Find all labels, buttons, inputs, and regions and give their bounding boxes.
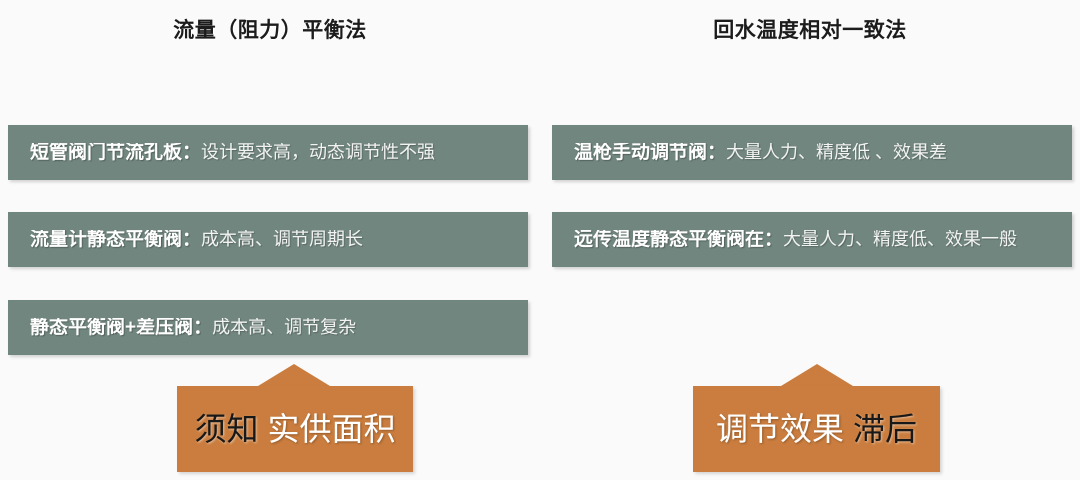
- left-callout-banner[interactable]: 须知 实供面积: [177, 386, 413, 472]
- left-item-2-text: 流量计静态平衡阀：成本高、调节周期长: [8, 230, 375, 249]
- left-item-bar-3[interactable]: 静态平衡阀+差压阀：成本高、调节复杂: [8, 300, 528, 355]
- left-callout-arrow-icon: [258, 364, 330, 386]
- right-callout-text: 调节效果 滞后: [716, 413, 917, 445]
- right-item-bar-2[interactable]: 远传温度静态平衡阀在：大量人力、精度低、效果一般: [552, 212, 1072, 267]
- left-item-2-keyword: 流量计静态平衡阀：: [30, 230, 201, 249]
- left-callout-dark-text: 须知: [195, 411, 259, 447]
- left-column-title: 流量（阻力）平衡法: [0, 14, 540, 44]
- right-item-1-text: 温枪手动调节阀：大量人力、精度低 、效果差: [552, 143, 959, 162]
- right-item-1-keyword: 温枪手动调节阀：: [574, 143, 726, 162]
- slide-canvas: 流量（阻力）平衡法 回水温度相对一致法 短管阀门节流孔板：设计要求高，动态调节性…: [0, 0, 1080, 480]
- left-item-3-desc: 成本高、调节复杂: [212, 318, 356, 337]
- left-item-1-desc: 设计要求高，动态调节性不强: [201, 143, 435, 162]
- right-item-2-desc: 大量人力、精度低、效果一般: [783, 230, 1017, 249]
- right-callout-light-text: 调节效果: [716, 411, 844, 447]
- right-callout-arrow-icon: [781, 364, 853, 386]
- left-item-bar-2[interactable]: 流量计静态平衡阀：成本高、调节周期长: [8, 212, 528, 267]
- left-callout-text: 须知 实供面积: [195, 413, 396, 445]
- right-item-2-keyword: 远传温度静态平衡阀在：: [574, 230, 783, 249]
- left-item-1-text: 短管阀门节流孔板：设计要求高，动态调节性不强: [8, 143, 447, 162]
- right-callout-banner[interactable]: 调节效果 滞后: [693, 386, 940, 472]
- right-item-1-desc: 大量人力、精度低 、效果差: [726, 143, 947, 162]
- left-item-bar-1[interactable]: 短管阀门节流孔板：设计要求高，动态调节性不强: [8, 125, 528, 180]
- left-item-1-keyword: 短管阀门节流孔板：: [30, 143, 201, 162]
- left-item-3-keyword: 静态平衡阀+差压阀：: [30, 318, 212, 337]
- right-column-title: 回水温度相对一致法: [540, 14, 1080, 44]
- left-item-2-desc: 成本高、调节周期长: [201, 230, 363, 249]
- left-callout-light-text: 实供面积: [267, 411, 395, 447]
- right-callout-dark-text: 滞后: [853, 411, 917, 447]
- right-item-bar-1[interactable]: 温枪手动调节阀：大量人力、精度低 、效果差: [552, 125, 1072, 180]
- right-item-2-text: 远传温度静态平衡阀在：大量人力、精度低、效果一般: [552, 230, 1029, 249]
- left-item-3-text: 静态平衡阀+差压阀：成本高、调节复杂: [8, 318, 368, 337]
